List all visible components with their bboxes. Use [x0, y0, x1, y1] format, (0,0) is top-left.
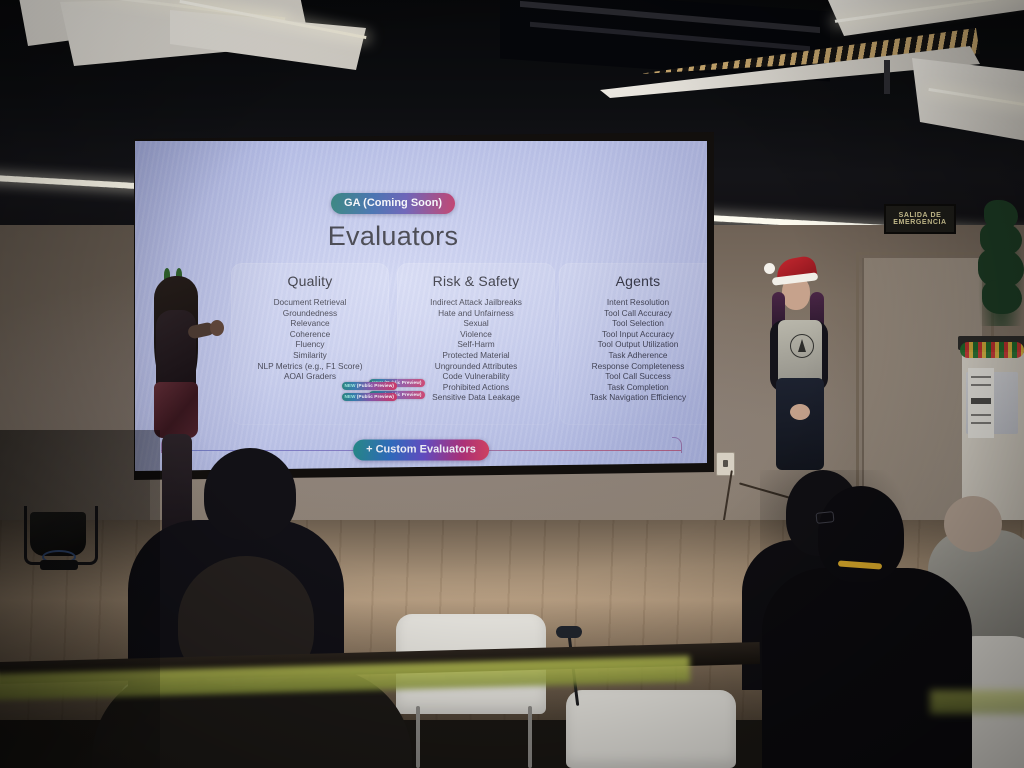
presenter-hands: [790, 404, 810, 420]
light-hanger: [884, 60, 890, 94]
chair: [566, 690, 736, 768]
chair-leg: [416, 706, 420, 768]
emergency-exit-sign: SALIDA DE EMERGENCIA: [884, 204, 956, 234]
presentation-photo-scene: SALIDA DE EMERGENCIA GA (Coming Soon) Ev…: [0, 0, 1024, 768]
santa-hat-pompom: [764, 263, 775, 274]
presenter-torso: [156, 310, 196, 388]
exit-sign-line1: SALIDA DE: [899, 212, 942, 219]
floor-glow-strip: [930, 690, 1024, 714]
presenter-pants: [776, 378, 824, 470]
audience-member: [762, 568, 972, 768]
microphone-head: [556, 626, 582, 638]
podium-paper-sign: [968, 368, 994, 438]
dark-corner-shading: [0, 430, 160, 768]
christmas-tree: [978, 196, 1024, 326]
audience-member-head: [204, 448, 296, 540]
chair-leg: [528, 706, 532, 768]
exit-sign-line2: EMERGENCIA: [893, 219, 946, 226]
holiday-garland: [960, 342, 1024, 358]
presenter-right: [758, 258, 842, 470]
presenter-skirt: [154, 382, 198, 438]
audience-member-head: [944, 496, 1002, 552]
presenter-hand: [210, 320, 224, 336]
tshirt-graphic-icon: [790, 334, 814, 358]
eyeglasses-icon: [815, 511, 834, 524]
